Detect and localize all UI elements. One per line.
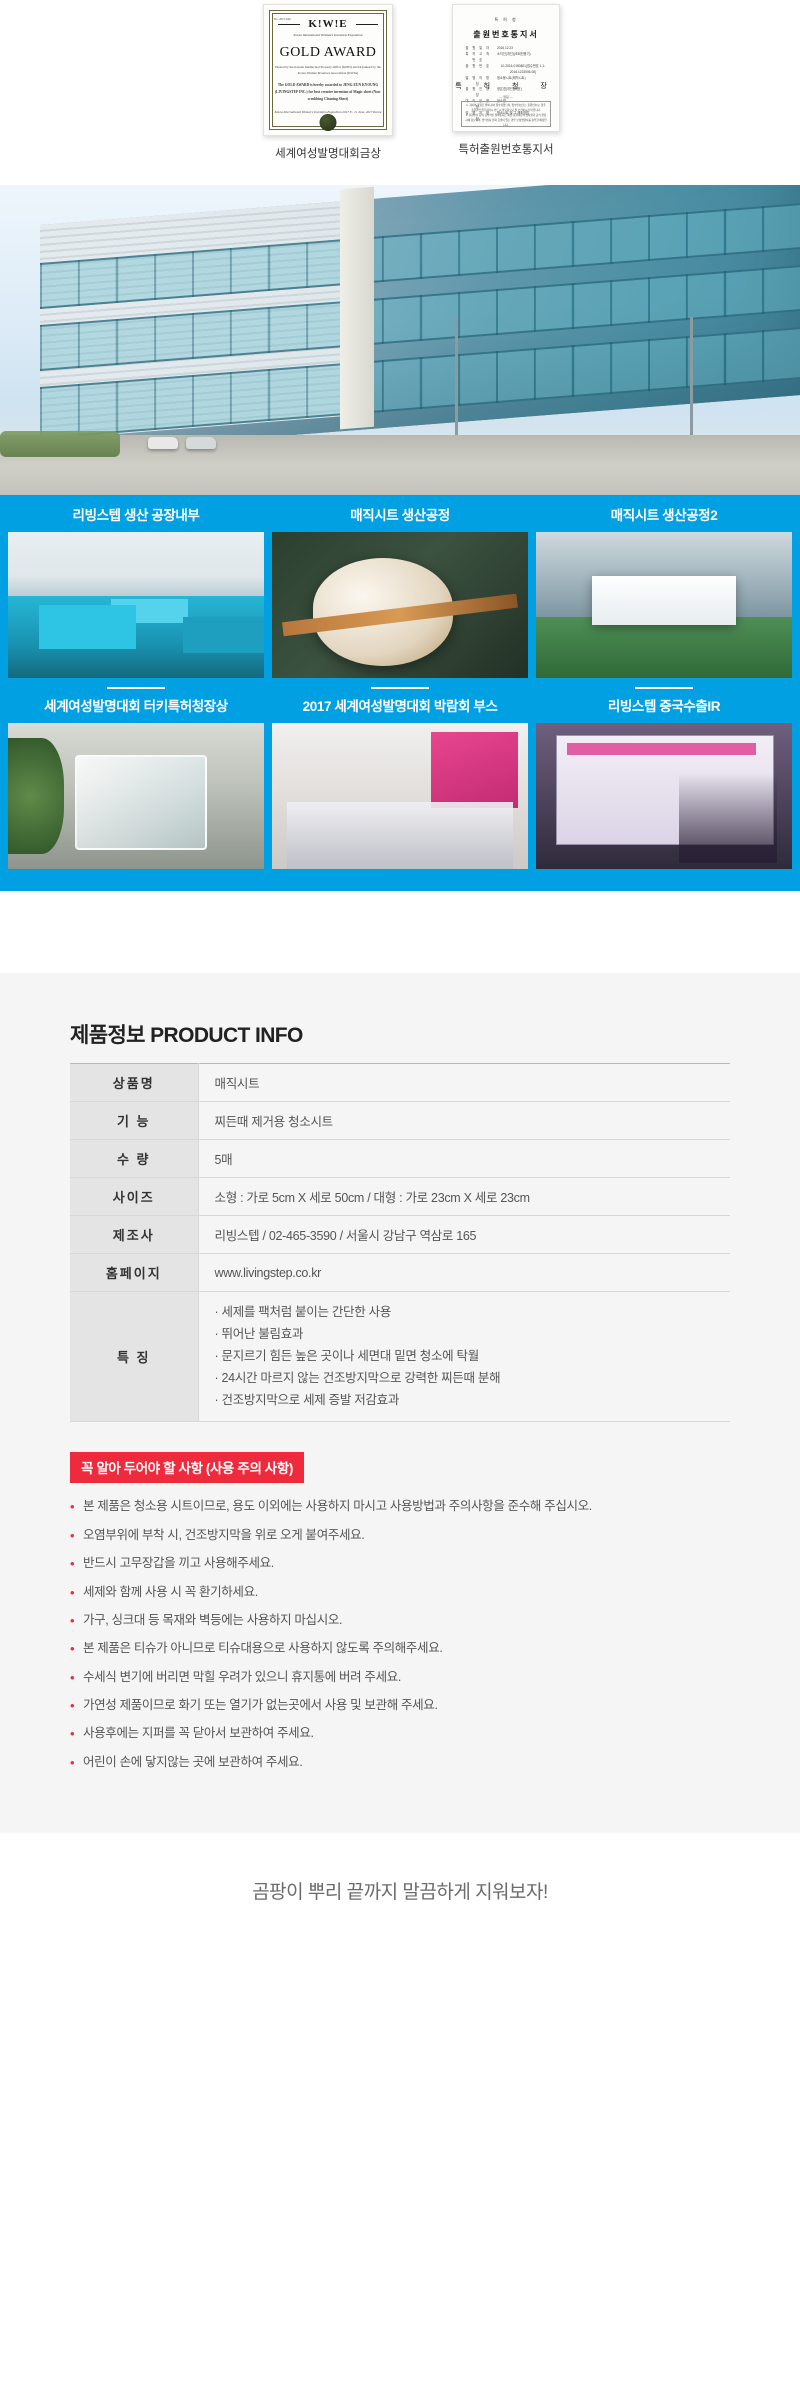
table-row: 수 량 5매 [70,1140,730,1178]
certificate-body-1: Hosted by the Korean Intellectual Proper… [274,64,382,77]
list-item: 세제와 함께 사용 시 꼭 환기하세요. [70,1583,730,1602]
patent-note: 2. 출원번호 등의 공식적인 절차통지는 해당 출원서류의 심사결과 공식 결… [465,114,547,127]
paper-roll-photo[interactable] [272,532,528,678]
caution-heading: 꼭 알아 두어야 할 사항 (사용 주의 사항) [70,1452,304,1483]
building-tower [340,187,374,430]
ground-pavement [0,435,800,495]
feature-line: · 24시간 마르지 않는 건조방지막으로 강력한 찌든때 분해 [215,1368,731,1390]
patent-commissioner-stamp: 특 허 청 장 [453,81,559,91]
certificate-caption: 세계여성발명대회금상 [238,145,418,161]
gold-award-image: No. 2017-046 K!W!E Korea International W… [263,4,393,136]
gallery-row-1: 리빙스텝 생산 공장내부 매직시트 생산공정 매직시트 생산공정2 [0,495,800,678]
gold-award-title: GOLD AWARD [264,45,392,61]
photo-gallery-section: 리빙스텝 생산 공장내부 매직시트 생산공정 매직시트 생산공정2 세계여성발명… [0,495,800,891]
gallery-caption: 매직시트 생산공정 [272,495,528,532]
kiwie-subtitle: Korea International Women's Invention Ex… [264,33,392,37]
section-spacer [0,891,800,973]
list-item: 어린이 손에 닿지않는 곳에 보관하여 주세요. [70,1753,730,1772]
product-info-section: 제품정보 PRODUCT INFO 상품명 매직시트 기 능 찌든때 제거용 청… [0,973,800,1833]
light-pole [455,317,458,437]
shrub [0,431,120,457]
patent-notice-title: 출원번호통지서 [453,29,559,40]
gallery-item: 리빙스텝 중국수출IR [536,678,792,869]
spec-value-features: · 세제를 팩처럼 붙이는 간단한 사용 · 뛰어난 불림효과 · 문지르기 힘… [198,1292,730,1422]
caution-list: 본 제품은 청소용 시트이므로, 용도 이외에는 사용하지 마시고 사용방법과 … [70,1497,730,1772]
spec-value: 매직시트 [198,1064,730,1102]
gallery-caption: 리빙스텝 중국수출IR [536,678,792,723]
gallery-caption-text: 리빙스텝 중국수출IR [608,699,720,714]
list-item: 사용후에는 지퍼를 꼭 닫아서 보관하여 주세요. [70,1724,730,1743]
spec-label: 홈페이지 [70,1254,198,1292]
patent-field-label: 출 원 번 호 [463,64,493,76]
spec-label: 사이즈 [70,1178,198,1216]
patent-note: 1. 귀하의 출원은 위와 같이 접수되었으며, 접수번호(또는 출원번호)는 … [465,104,547,113]
patent-field-value: 소지인(개인)(조회전용기) [497,52,531,64]
feature-line: · 세제를 팩처럼 붙이는 간단한 사용 [215,1302,731,1324]
parked-car [186,437,216,449]
feature-line: · 건조방지막으로 세제 증발 저감효과 [215,1390,731,1412]
gallery-item: 매직시트 생산공정2 [536,495,792,678]
spec-value: 5매 [198,1140,730,1178]
patent-office-label: 특 허 청 [453,17,559,23]
light-pole [690,317,693,437]
product-detail-page: No. 2017-046 K!W!E Korea International W… [0,0,800,1946]
spec-value: 리빙스텝 / 02-465-3590 / 서울시 강남구 역삼로 165 [198,1216,730,1254]
gallery-item: 세계여성발명대회 터키특허청장상 [8,678,264,869]
gallery-row-2: 세계여성발명대회 터키특허청장상 2017 세계여성발명대회 박람회 부스 리빙… [0,678,800,869]
gallery-caption: 2017 세계여성발명대회 박람회 부스 [272,678,528,723]
gallery-item: 매직시트 생산공정 [272,495,528,678]
list-item: 오염부위에 부착 시, 건조방지막을 위로 오게 붙여주세요. [70,1526,730,1545]
gallery-caption: 리빙스텝 생산 공장내부 [8,495,264,532]
list-item: 본 제품은 청소용 시트이므로, 용도 이외에는 사용하지 마시고 사용방법과 … [70,1497,730,1516]
patent-notice-divider-label: — 알림 — [453,95,559,99]
feature-line: · 뛰어난 불림효과 [215,1324,731,1346]
product-spec-table: 상품명 매직시트 기 능 찌든때 제거용 청소시트 수 량 5매 사이즈 소형 … [70,1063,730,1422]
turk-patent-trophy-photo[interactable] [8,723,264,869]
sheet-machine-photo[interactable] [536,532,792,678]
presenter-silhouette [679,773,776,864]
patent-field-row: 특 허 고 객 번 호소지인(개인)(조회전용기) [463,52,549,64]
spec-label-features: 특 징 [70,1292,198,1422]
certificate-gold-award: No. 2017-046 K!W!E Korea International W… [238,4,418,161]
page-title: 제품정보 PRODUCT INFO [70,1019,730,1049]
certificate-body-2: The GOLD AWARD is hereby awarded to JENG… [274,82,382,102]
spec-label: 상품명 [70,1064,198,1102]
list-item: 가구, 싱크대 등 목재와 벽등에는 사용하지 마십시오. [70,1611,730,1630]
feature-line: · 문지르기 힘든 높은 곳이나 세면대 밑면 청소에 탁월 [215,1346,731,1368]
patent-field-row: 출 원 번 호10-2016-0180801(접수번호 1-1-2016-122… [463,64,549,76]
spec-label: 제조사 [70,1216,198,1254]
certificate-patent-notice: 특 허 청 출원번호통지서 출 원 일 자2016.12.23 특 허 고 객 … [450,4,562,157]
table-row-features: 특 징 · 세제를 팩처럼 붙이는 간단한 사용 · 뛰어난 불림효과 · 문지… [70,1292,730,1422]
factory-interior-photo[interactable] [8,532,264,678]
caption-underline [107,687,165,689]
table-row: 상품명 매직시트 [70,1064,730,1102]
patent-field-value: 10-2016-0180801(접수번호 1-1-2016-1223006-08… [497,64,549,76]
patent-notes-box: 1. 귀하의 출원은 위와 같이 접수되었으며, 접수번호(또는 출원번호)는 … [461,101,551,127]
certificates-section: No. 2017-046 K!W!E Korea International W… [0,0,800,185]
gallery-caption: 매직시트 생산공정2 [536,495,792,532]
patent-field-label: 특 허 고 객 번 호 [463,52,493,64]
certificate-caption: 특허출원번호통지서 [450,141,562,157]
list-item: 가연성 제품이므로 화기 또는 열기가 없는곳에서 사용 및 보관해 주세요. [70,1696,730,1715]
spec-label: 기 능 [70,1102,198,1140]
seal-icon [320,114,337,131]
gallery-caption-text: 세계여성발명대회 터키특허청장상 [44,699,228,714]
table-row: 기 능 찌든때 제거용 청소시트 [70,1102,730,1140]
footer-slogan: 곰팡이 뿌리 끝까지 말끔하게 지워보자! [0,1833,800,1946]
spec-label: 수 량 [70,1140,198,1178]
gallery-caption: 세계여성발명대회 터키특허청장상 [8,678,264,723]
table-row: 홈페이지 www.livingstep.co.kr [70,1254,730,1292]
patent-notice-image: 특 허 청 출원번호통지서 출 원 일 자2016.12.23 특 허 고 객 … [452,4,560,132]
factory-building-photo [0,185,800,495]
spec-value-homepage[interactable]: www.livingstep.co.kr [198,1254,730,1292]
spec-value: 찌든때 제거용 청소시트 [198,1102,730,1140]
list-item: 수세식 변기에 버리면 막힐 우려가 있으니 휴지통에 버려 주세요. [70,1668,730,1687]
china-export-ir-photo[interactable] [536,723,792,869]
caption-underline [371,687,429,689]
gallery-item: 리빙스텝 생산 공장내부 [8,495,264,678]
table-row: 제조사 리빙스텝 / 02-465-3590 / 서울시 강남구 역삼로 165 [70,1216,730,1254]
expo-booth-photo[interactable] [272,723,528,869]
gallery-caption-text: 2017 세계여성발명대회 박람회 부스 [303,699,498,714]
gallery-item: 2017 세계여성발명대회 박람회 부스 [272,678,528,869]
table-row: 사이즈 소형 : 가로 5cm X 세로 50cm / 대형 : 가로 23cm… [70,1178,730,1216]
spec-value: 소형 : 가로 5cm X 세로 50cm / 대형 : 가로 23cm X 세… [198,1178,730,1216]
list-item: 본 제품은 티슈가 아니므로 티슈대용으로 사용하지 않도록 주의해주세요. [70,1639,730,1658]
list-item: 반드시 고무장갑을 끼고 사용해주세요. [70,1554,730,1573]
parked-car [148,437,178,449]
caption-underline [635,687,693,689]
kiwie-logo: K!W!E [264,18,392,30]
